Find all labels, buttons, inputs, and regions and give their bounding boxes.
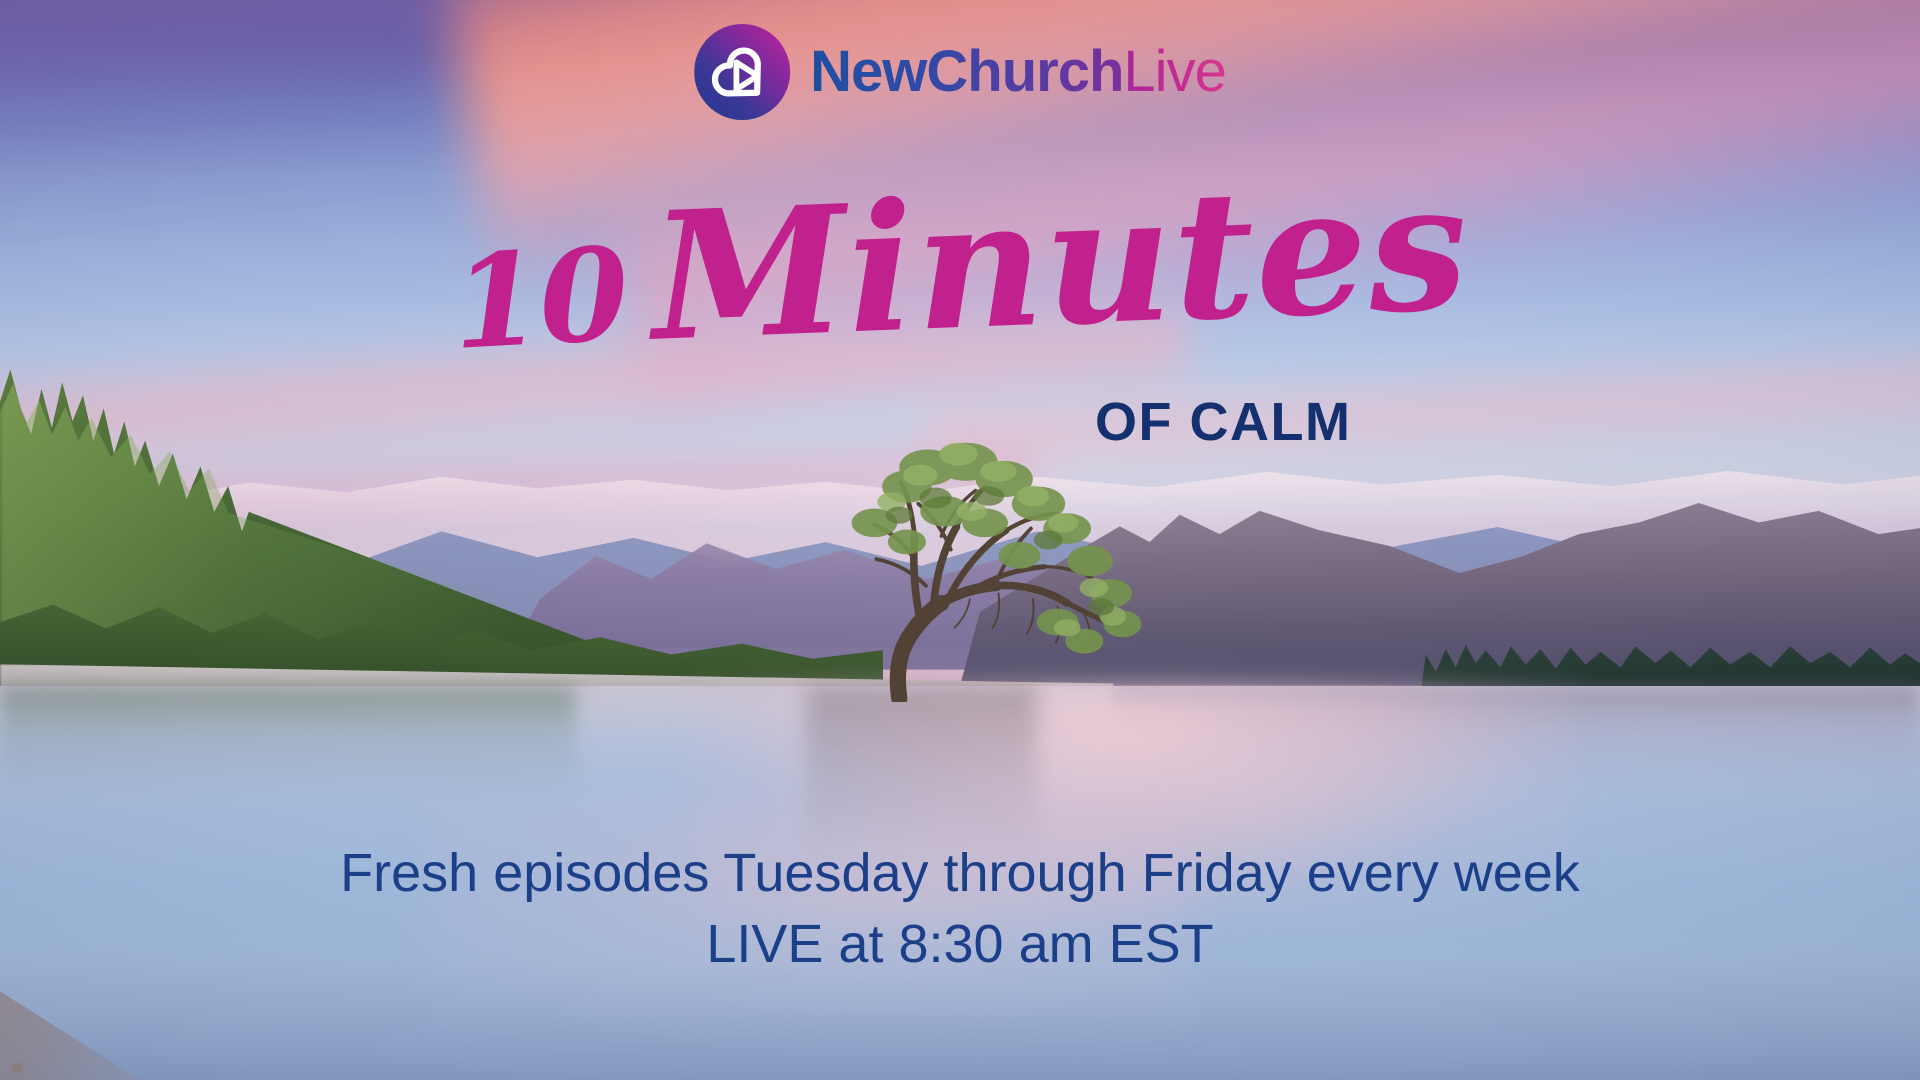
hero-script-title: 10Minutes <box>448 159 1471 374</box>
schedule-line-1: Fresh episodes Tuesday through Friday ev… <box>0 845 1920 902</box>
promo-graphic: NewChurchLive 10Minutes OF CALM Fresh ep… <box>0 0 1920 1080</box>
brand-logo-lockup[interactable]: NewChurchLive <box>694 24 1226 120</box>
hero-subtitle: OF CALM <box>1095 391 1351 453</box>
heart-play-icon <box>694 24 790 120</box>
wordmark-live: Live <box>1123 43 1225 101</box>
hero-number: 10 <box>449 230 630 368</box>
wordmark-newchurch: NewChurch <box>810 43 1123 101</box>
overlay-content: NewChurchLive 10Minutes OF CALM Fresh ep… <box>0 0 1920 1080</box>
schedule-block: Fresh episodes Tuesday through Friday ev… <box>0 845 1920 972</box>
schedule-line-2: LIVE at 8:30 am EST <box>0 916 1920 973</box>
hero-word: Minutes <box>648 159 1471 366</box>
brand-wordmark: NewChurchLive <box>810 43 1226 101</box>
